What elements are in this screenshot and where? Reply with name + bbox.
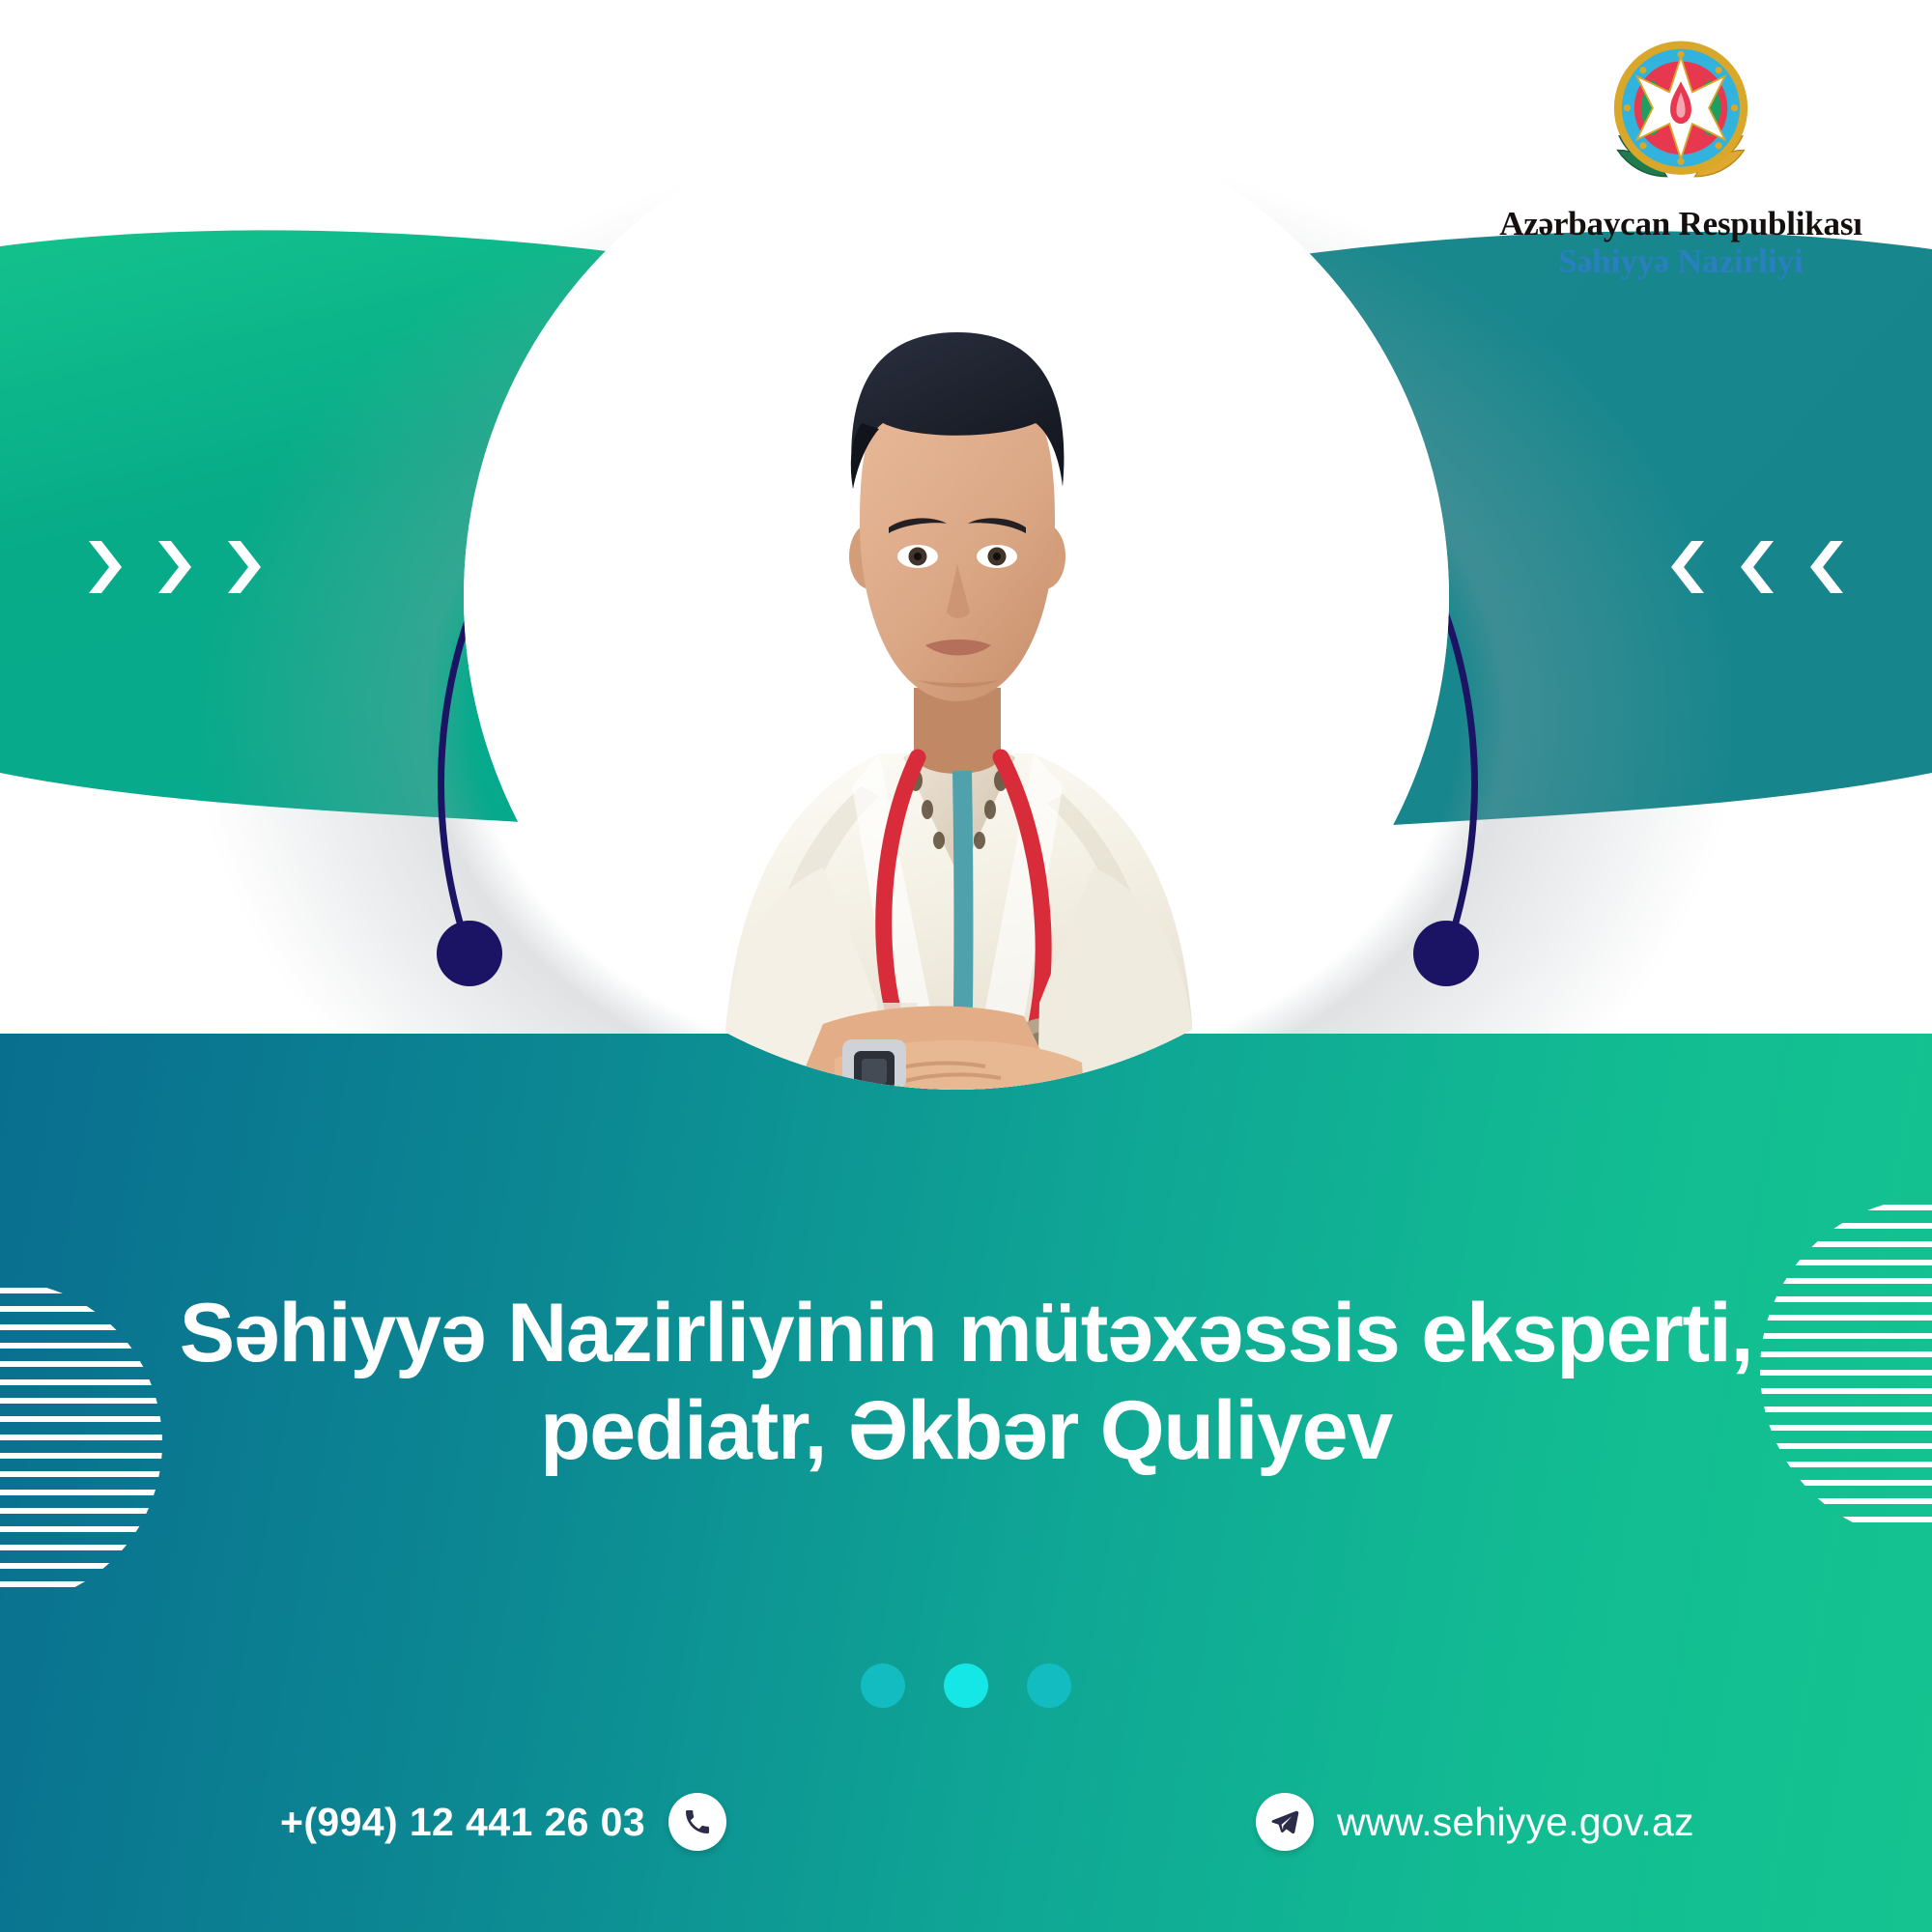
ministry-logo: Azərbaycan Respublikası Səhiyyə Nazirliy… xyxy=(1478,27,1884,281)
azerbaijan-state-emblem-icon xyxy=(1593,27,1769,203)
footer: +(994) 12 441 26 03 www.sehiyye.gov.az xyxy=(0,1793,1932,1882)
dot-2 xyxy=(944,1663,988,1708)
poster-canvas: Azərbaycan Respublikası Səhiyyə Nazirliy… xyxy=(0,0,1932,1932)
footer-phone[interactable]: +(994) 12 441 26 03 xyxy=(280,1793,726,1851)
logo-line-1: Azərbaycan Respublikası xyxy=(1478,207,1884,242)
chevron-left-icon xyxy=(1671,541,1704,593)
footer-website[interactable]: www.sehiyye.gov.az xyxy=(1256,1793,1694,1851)
dot-1 xyxy=(861,1663,905,1708)
portrait-circle xyxy=(464,104,1449,1090)
chevron-right-icon xyxy=(158,541,191,593)
website-url-text: www.sehiyye.gov.az xyxy=(1337,1800,1694,1845)
chevrons-right-decor xyxy=(89,541,261,593)
logo-line-2: Səhiyyə Nazirliyi xyxy=(1478,242,1884,281)
chevron-right-icon xyxy=(228,541,261,593)
doctor-portrait-illustration xyxy=(464,104,1449,1090)
dot-separator-decor xyxy=(0,1663,1932,1708)
page-title: Səhiyyə Nazirliyinin mütəxəssis eksperti… xyxy=(58,1285,1874,1481)
telegram-send-icon xyxy=(1256,1793,1314,1851)
chevron-left-icon xyxy=(1810,541,1843,593)
phone-icon xyxy=(668,1793,726,1851)
chevrons-left-decor xyxy=(1671,541,1843,593)
chevron-right-icon xyxy=(89,541,122,593)
dot-3 xyxy=(1027,1663,1071,1708)
phone-number-text: +(994) 12 441 26 03 xyxy=(280,1800,645,1845)
chevron-left-icon xyxy=(1741,541,1774,593)
